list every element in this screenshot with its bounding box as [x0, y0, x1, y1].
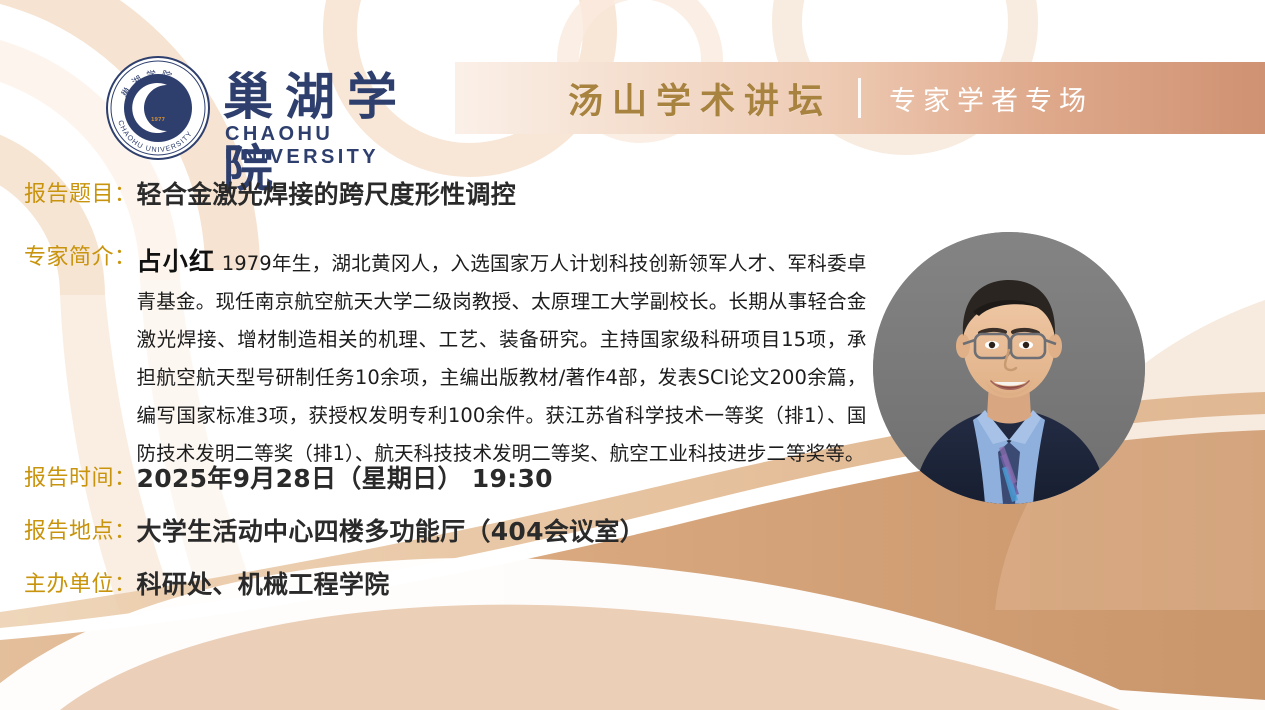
lecture-organizer-row: 主办单位： 科研处、机械工程学院 [24, 570, 390, 600]
lecture-title-value: 轻合金激光焊接的跨尺度形性调控 [137, 180, 517, 210]
lecture-organizer-value: 科研处、机械工程学院 [137, 570, 390, 600]
speaker-bio-body: 占小红 1979年生，湖北黄冈人，入选国家万人计划科技创新领军人才、军科委卓青基… [137, 243, 867, 473]
speaker-name: 占小红 [137, 247, 216, 276]
speaker-portrait-image [873, 232, 1145, 504]
speaker-bio-row: 专家简介： 占小红 1979年生，湖北黄冈人，入选国家万人计划科技创新领军人才、… [24, 243, 884, 473]
lecture-time-label: 报告时间： [24, 464, 137, 494]
logo-name-en: CHAOHU UNIVERSITY [225, 123, 455, 169]
banner-main-title: 汤山学术讲坛 [568, 73, 832, 124]
banner-sub-title: 专家学者专场 [889, 79, 1093, 118]
lecture-title-row: 报告题目： 轻合金激光焊接的跨尺度形性调控 [24, 180, 516, 210]
poster-canvas: 汤山学术讲坛 专家学者专场 1977 巢湖学院 CHAOHU UNIVERSIT… [0, 0, 1265, 710]
header-banner: 汤山学术讲坛 专家学者专场 [455, 62, 1265, 134]
speaker-bio-label: 专家简介： [24, 243, 137, 273]
speaker-portrait [873, 232, 1145, 504]
lecture-place-value: 大学生活动中心四楼多功能厅（404会议室） [137, 517, 646, 547]
lecture-time-row: 报告时间： 2025年9月28日（星期日） 19:30 [24, 464, 553, 494]
svg-text:1977: 1977 [151, 117, 165, 123]
university-seal-icon: 1977 巢湖学院 CHAOHU UNIVERSITY [105, 55, 211, 161]
speaker-bio-text: 1979年生，湖北黄冈人，入选国家万人计划科技创新领军人才、军科委卓青基金。现任… [137, 252, 867, 465]
university-logo: 1977 巢湖学院 CHAOHU UNIVERSITY 巢湖学院 CHAOHU … [105, 55, 455, 163]
lecture-time-value: 2025年9月28日（星期日） 19:30 [137, 464, 553, 494]
lecture-title-label: 报告题目： [24, 180, 137, 210]
banner-divider [858, 78, 861, 118]
lecture-organizer-label: 主办单位： [24, 570, 137, 600]
lecture-place-row: 报告地点： 大学生活动中心四楼多功能厅（404会议室） [24, 517, 645, 547]
wave-lower-accent [60, 605, 1120, 710]
lecture-place-label: 报告地点： [24, 517, 137, 547]
